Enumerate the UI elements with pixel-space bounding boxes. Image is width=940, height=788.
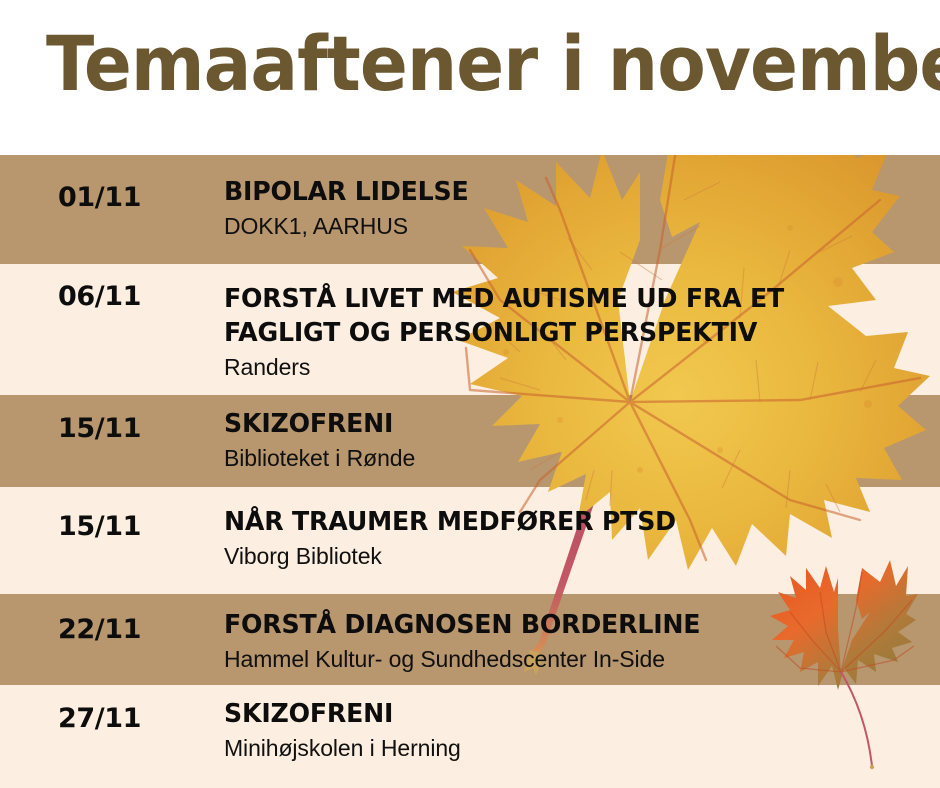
event-details: NÅR TRAUMER MEDFØRER PTSDViborg Bibliote…	[224, 505, 930, 571]
event-date: 22/11	[58, 614, 141, 645]
event-venue: Biblioteket i Rønde	[224, 443, 930, 473]
event-title: SKIZOFRENI	[224, 407, 909, 441]
event-details: SKIZOFRENIBiblioteket i Rønde	[224, 407, 930, 473]
event-title: FORSTÅ DIAGNOSEN BORDERLINE	[224, 608, 909, 642]
event-venue: Viborg Bibliotek	[224, 541, 930, 571]
event-details: BIPOLAR LIDELSEDOKK1, AARHUS	[224, 175, 930, 241]
event-venue: Hammel Kultur- og Sundhedscenter In-Side	[224, 644, 930, 674]
poster-canvas: Temaaftener i november 01/11BIPOLAR LIDE…	[0, 0, 940, 788]
event-venue: Minihøjskolen i Herning	[224, 733, 930, 763]
header-band: Temaaftener i november	[0, 0, 940, 155]
event-date: 01/11	[58, 182, 141, 213]
event-title: FORSTÅ LIVET MED AUTISME UD FRA ET FAGLI…	[224, 282, 909, 350]
event-details: SKIZOFRENIMinihøjskolen i Herning	[224, 697, 930, 763]
event-title: BIPOLAR LIDELSE	[224, 175, 909, 209]
event-date: 06/11	[58, 281, 141, 312]
event-title: NÅR TRAUMER MEDFØRER PTSD	[224, 505, 909, 539]
event-date: 15/11	[58, 413, 141, 444]
event-venue: DOKK1, AARHUS	[224, 211, 930, 241]
event-venue: Randers	[224, 352, 930, 382]
event-date: 15/11	[58, 511, 141, 542]
event-details: FORSTÅ DIAGNOSEN BORDERLINEHammel Kultur…	[224, 608, 930, 674]
event-date: 27/11	[58, 703, 141, 734]
page-title: Temaaftener i november	[46, 26, 940, 102]
event-title: SKIZOFRENI	[224, 697, 909, 731]
event-details: FORSTÅ LIVET MED AUTISME UD FRA ET FAGLI…	[224, 282, 930, 382]
